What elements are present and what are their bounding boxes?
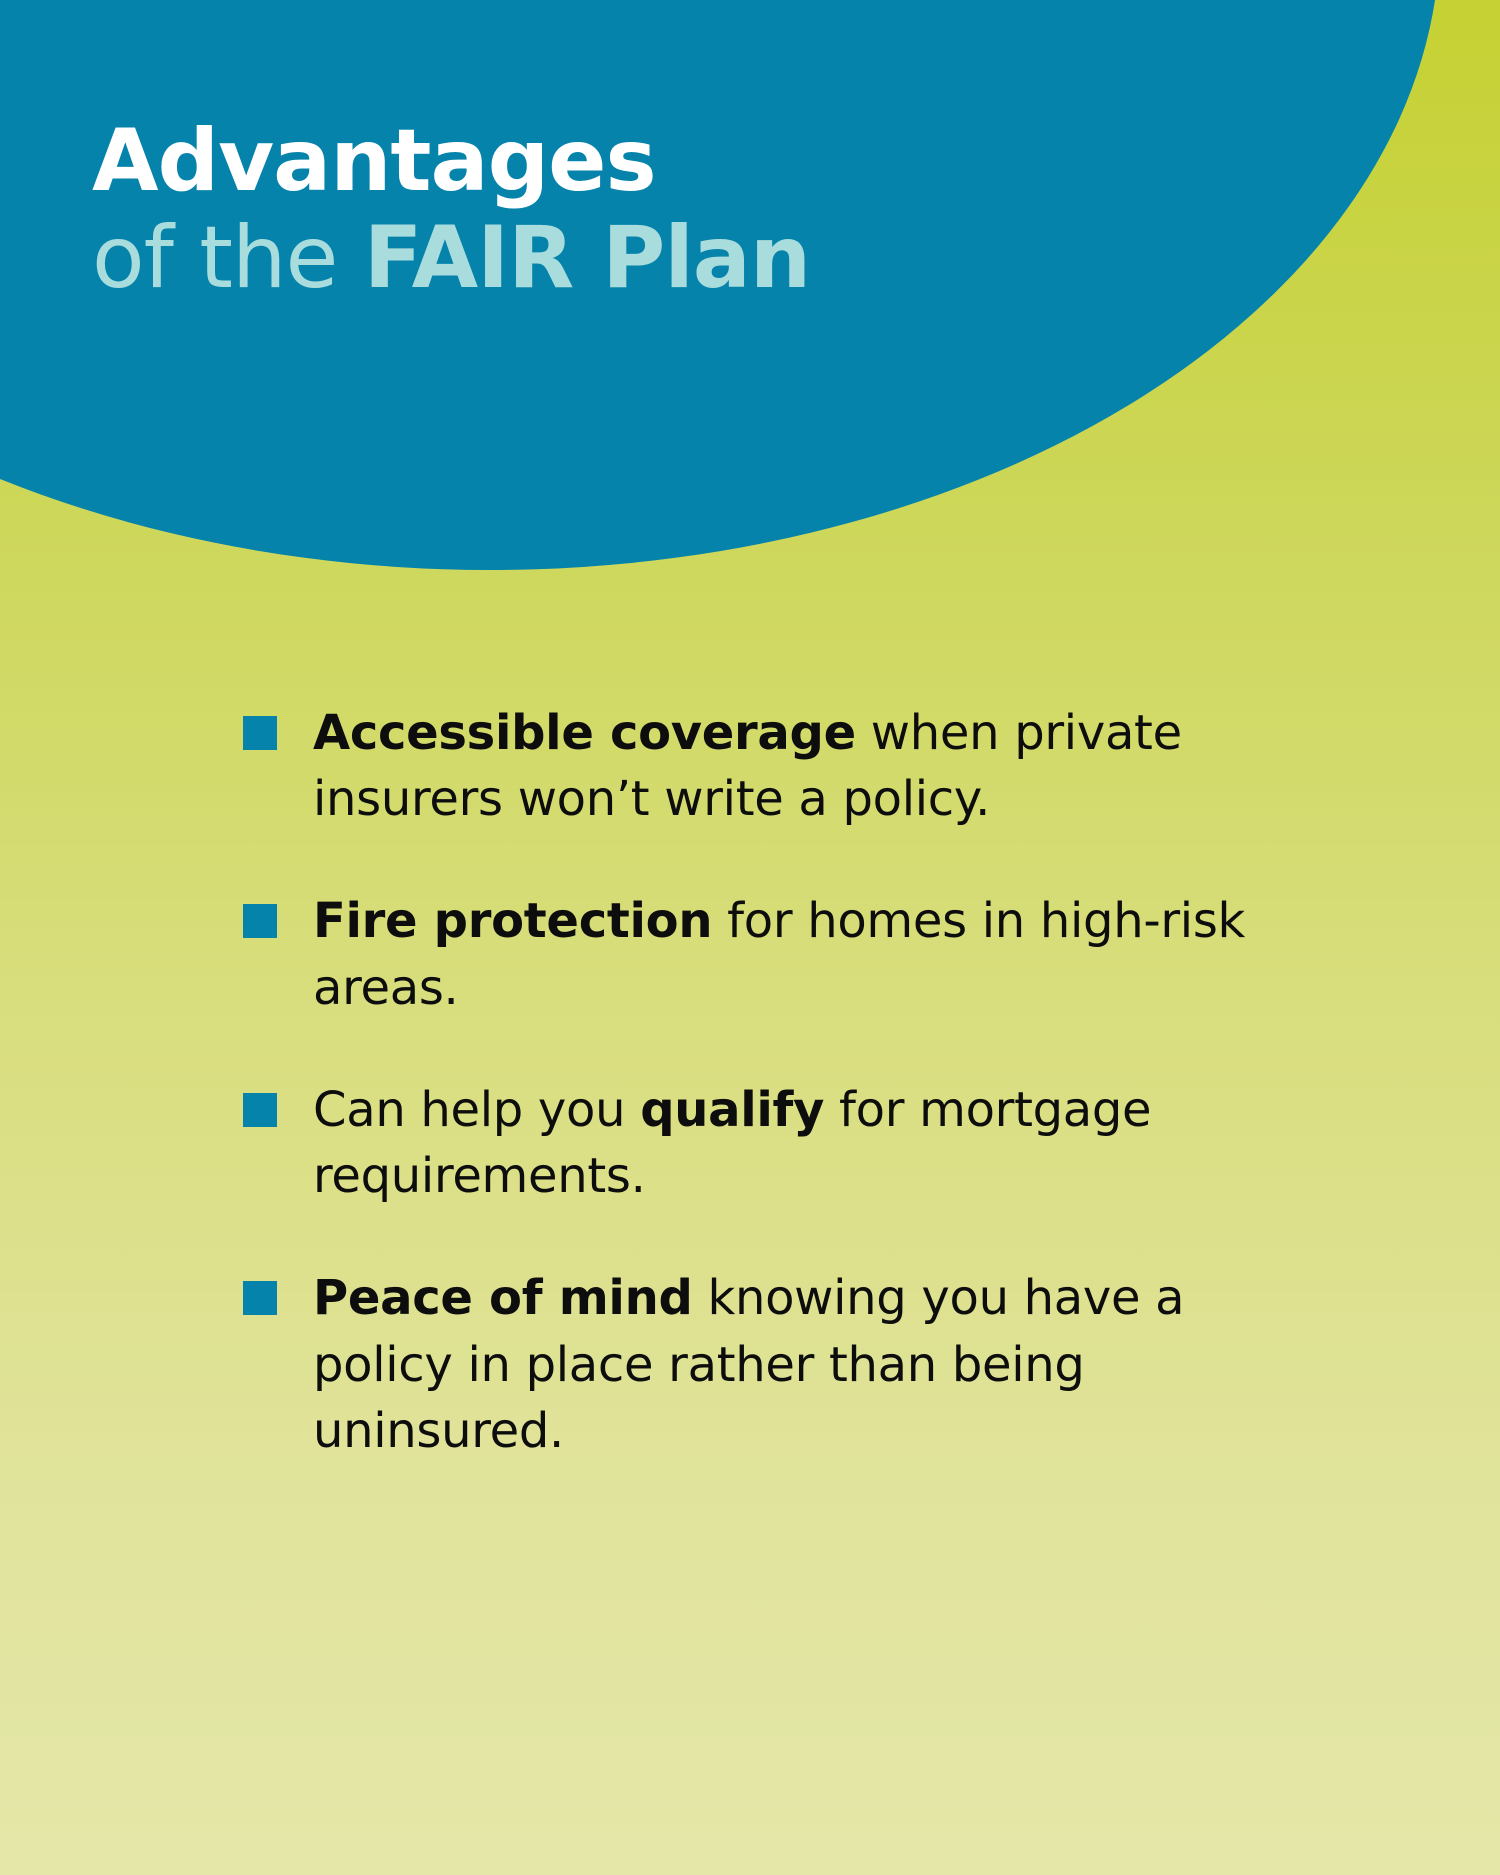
list-item-text: Peace of mind knowing you have a policy … xyxy=(313,1265,1283,1464)
square-bullet-icon xyxy=(243,1281,277,1315)
list-item: Fire protection for homes in high-risk a… xyxy=(243,888,1283,1020)
square-bullet-icon xyxy=(243,904,277,938)
list-item-text: Fire protection for homes in high-risk a… xyxy=(313,888,1283,1020)
list-item-text: Accessible coverage when private insurer… xyxy=(313,700,1283,832)
list-item: Accessible coverage when private insurer… xyxy=(243,700,1283,832)
list-item-lead: Peace of mind xyxy=(313,1270,693,1326)
list-item: Peace of mind knowing you have a policy … xyxy=(243,1265,1283,1464)
poster-canvas: Advantages of the FAIR Plan Accessible c… xyxy=(0,0,1500,1875)
list-item-lead: qualify xyxy=(640,1082,824,1138)
list-item-prefix: Can help you xyxy=(313,1082,640,1138)
page-title-emphasis: FAIR Plan xyxy=(364,208,810,308)
square-bullet-icon xyxy=(243,1093,277,1127)
list-item-lead: Fire protection xyxy=(313,893,712,949)
advantages-list: Accessible coverage when private insurer… xyxy=(243,700,1283,1464)
list-item: Can help you qualify for mortgage requir… xyxy=(243,1077,1283,1209)
page-title-line-1: Advantages xyxy=(92,118,1092,206)
square-bullet-icon xyxy=(243,716,277,750)
page-title-line-2: of the FAIR Plan xyxy=(92,206,1092,311)
list-item-text: Can help you qualify for mortgage requir… xyxy=(313,1077,1283,1209)
page-title-prefix: of the xyxy=(92,208,364,308)
list-item-lead: Accessible coverage xyxy=(313,705,856,761)
header: Advantages of the FAIR Plan xyxy=(92,118,1092,311)
